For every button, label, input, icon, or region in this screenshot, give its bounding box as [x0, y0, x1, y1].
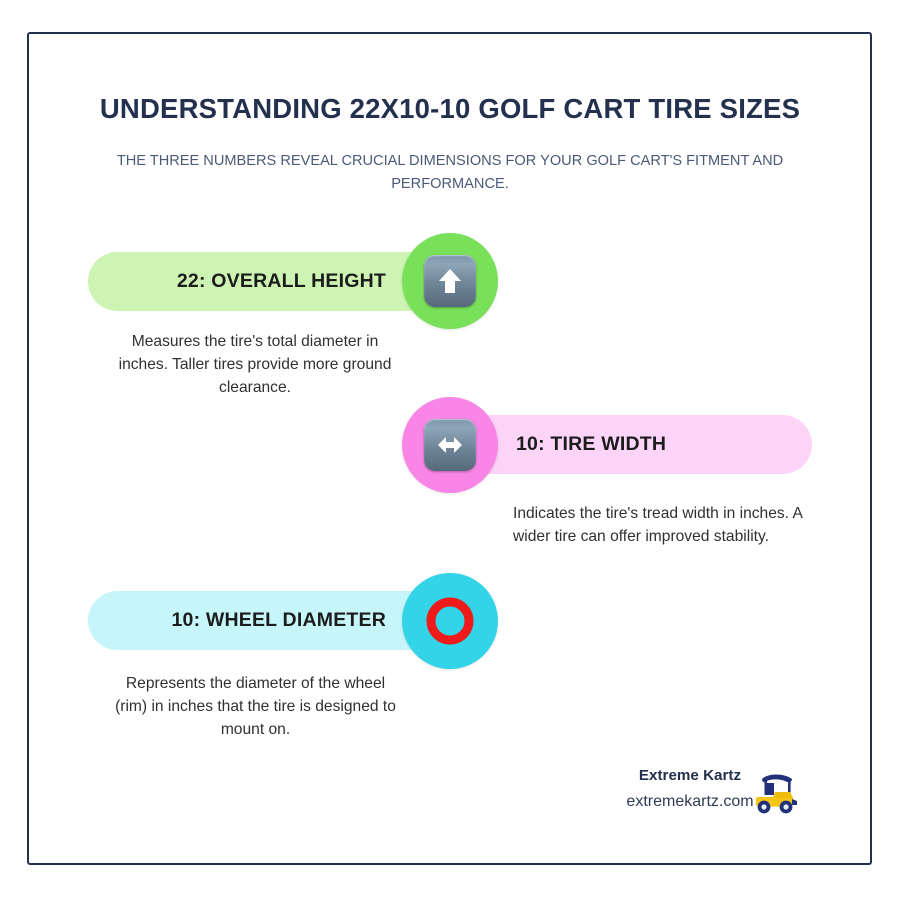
- badge-overall-height: [402, 233, 498, 329]
- page-title: UNDERSTANDING 22X10-10 GOLF CART TIRE SI…: [60, 93, 840, 125]
- pill-label-overall-height: 22: OVERALL HEIGHT: [177, 270, 386, 293]
- description-tire-width: Indicates the tire's tread width in inch…: [513, 502, 803, 548]
- pill-label-tire-width: 10: TIRE WIDTH: [516, 433, 666, 456]
- page-subtitle: THE THREE NUMBERS REVEAL CRUCIAL DIMENSI…: [95, 150, 805, 195]
- red-ring-icon: [423, 594, 477, 648]
- description-wheel-diameter: Represents the diameter of the wheel (ri…: [108, 672, 403, 741]
- golf-cart-logo-icon: [748, 768, 802, 818]
- left-right-arrow-icon: [424, 419, 476, 471]
- badge-tire-width: [402, 397, 498, 493]
- pill-label-wheel-diameter: 10: WHEEL DIAMETER: [171, 609, 386, 632]
- pill-overall-height: 22: OVERALL HEIGHT: [88, 252, 450, 311]
- infographic-canvas: UNDERSTANDING 22X10-10 GOLF CART TIRE SI…: [0, 0, 900, 900]
- description-overall-height: Measures the tire's total diameter in in…: [105, 330, 405, 399]
- pill-wheel-diameter: 10: WHEEL DIAMETER: [88, 591, 450, 650]
- pill-tire-width: 10: TIRE WIDTH: [450, 415, 812, 474]
- badge-wheel-diameter: [402, 573, 498, 669]
- up-arrow-icon: [424, 255, 476, 307]
